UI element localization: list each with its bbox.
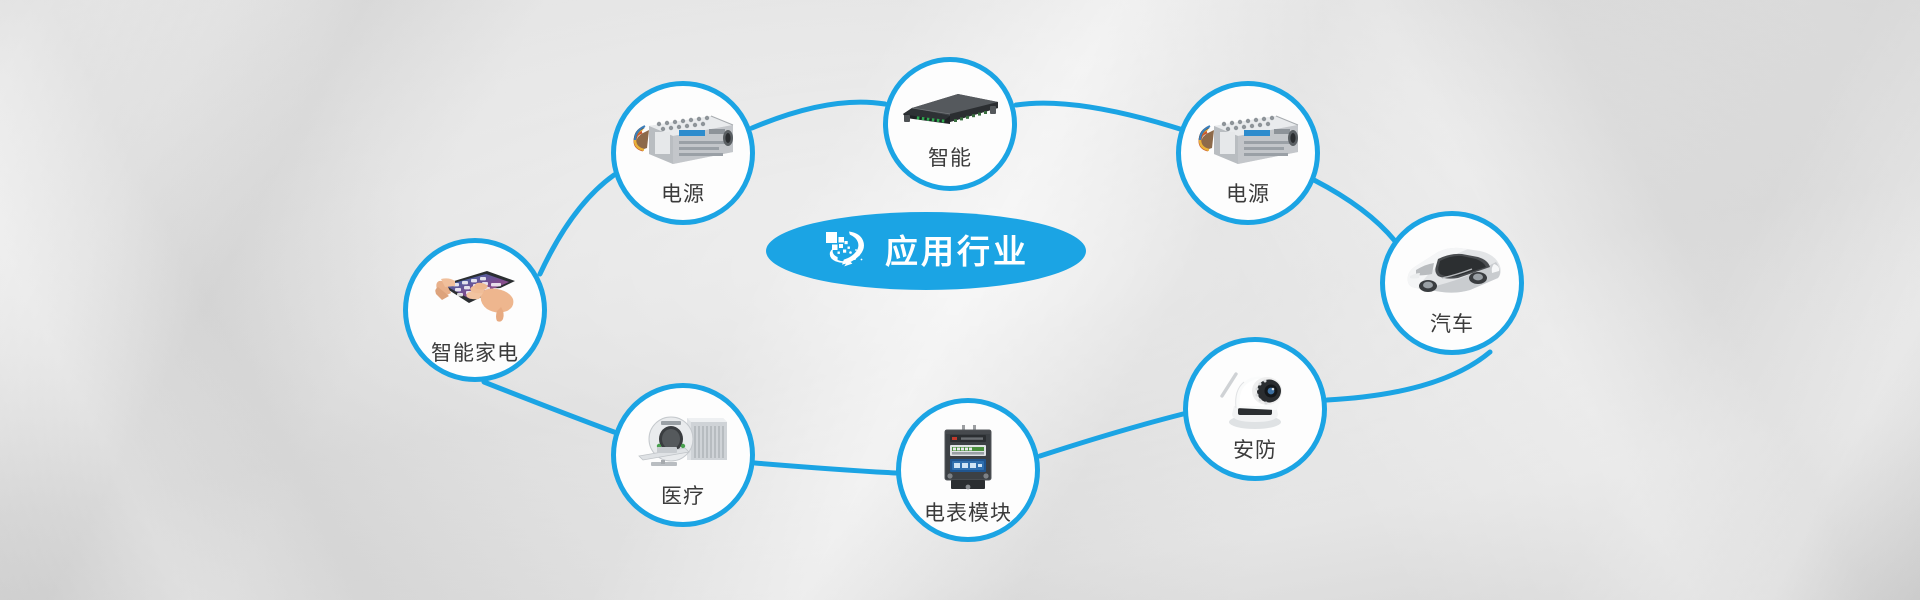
center-badge[interactable]: 应用行业 [766, 212, 1086, 290]
node-label: 电表模块 [901, 497, 1035, 527]
badge-title: 应用行业 [885, 235, 1029, 268]
electric-meter-icon [901, 421, 1035, 495]
power-supply-icon [1181, 108, 1315, 170]
node-label: 电源 [1181, 178, 1315, 208]
connector-automotive-to-security [1327, 352, 1490, 400]
ip-camera-icon [1188, 362, 1322, 430]
node-smart-appliance[interactable]: 智能家电 [403, 238, 547, 382]
node-security[interactable]: 安防 [1183, 337, 1327, 481]
connector-power-right-to-automotive [1314, 180, 1395, 241]
node-smart[interactable]: 智能 [883, 57, 1017, 191]
orbit-pixel-logo-icon [823, 228, 871, 274]
connector-medical-to-smart-appliance [484, 382, 614, 432]
node-automotive[interactable]: 汽车 [1380, 211, 1524, 355]
power-supply-icon [616, 108, 750, 170]
sports-car-icon [1385, 242, 1519, 298]
connector-smart-appliance-to-power-left [540, 175, 614, 274]
connector-security-to-meter [1040, 414, 1183, 456]
node-label: 汽车 [1385, 308, 1519, 338]
node-label: 智能 [888, 142, 1012, 172]
mri-scanner-icon [616, 410, 750, 472]
node-medical[interactable]: 医疗 [611, 383, 755, 527]
node-label: 电源 [616, 178, 750, 208]
node-label: 安防 [1188, 434, 1322, 464]
tablet-hand-icon [408, 263, 542, 327]
node-power-supply-left[interactable]: 电源 [611, 81, 755, 225]
application-industries-banner: 电源 [0, 0, 1920, 600]
connector-power-left-to-smart [752, 102, 885, 128]
node-label: 智能家电 [408, 337, 542, 367]
node-power-supply-right[interactable]: 电源 [1176, 81, 1320, 225]
connector-meter-to-medical [755, 463, 896, 473]
rack-server-icon [888, 88, 1012, 134]
connector-smart-to-power-right [1016, 103, 1180, 129]
node-meter-module[interactable]: 电表模块 [896, 398, 1040, 542]
node-label: 医疗 [616, 480, 750, 510]
